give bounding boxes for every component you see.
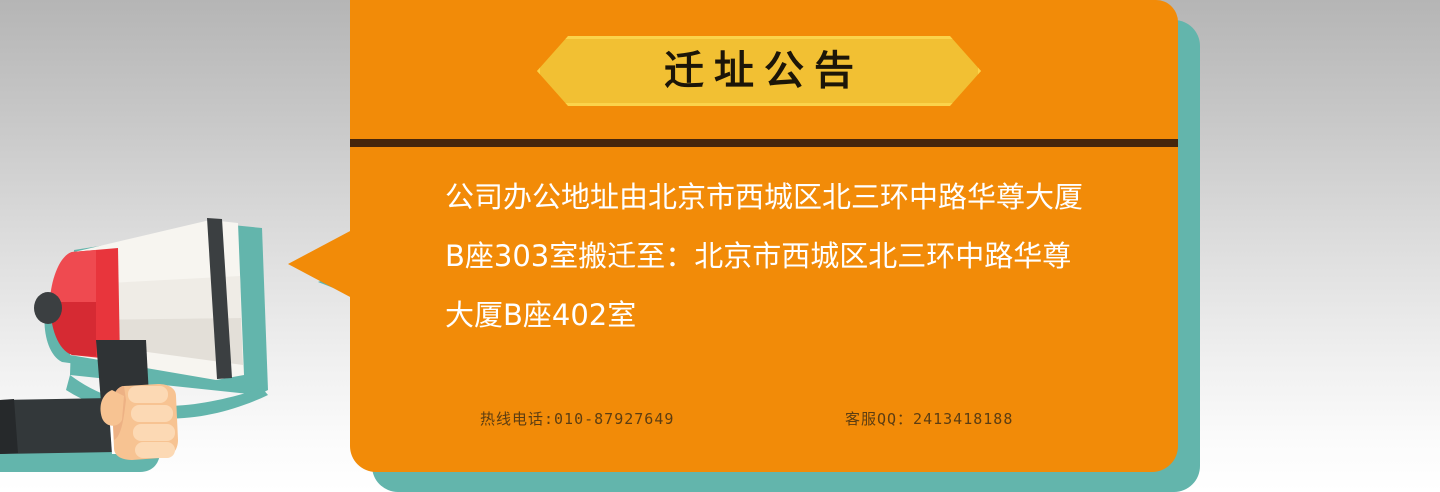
announcement-banner: 迁址公告 公司办公地址由北京市西城区北三环中路华尊大厦B座303室搬迁至：北京市… xyxy=(0,0,1440,492)
announcement-body: 公司办公地址由北京市西城区北三环中路华尊大厦B座303室搬迁至：北京市西城区北三… xyxy=(445,168,1097,345)
page-title: 迁址公告 xyxy=(654,51,864,91)
title-badge: 迁址公告 xyxy=(537,36,981,106)
customer-service-qq: 客服QQ：2413418188 xyxy=(825,408,1097,429)
title-divider xyxy=(350,139,1178,147)
hotline-phone: 热线电话:010-87927649 xyxy=(445,408,825,429)
megaphone-back-nub xyxy=(34,292,62,324)
contact-row: 热线电话:010-87927649 客服QQ：2413418188 xyxy=(445,408,1097,429)
bubble-tail xyxy=(288,230,352,298)
